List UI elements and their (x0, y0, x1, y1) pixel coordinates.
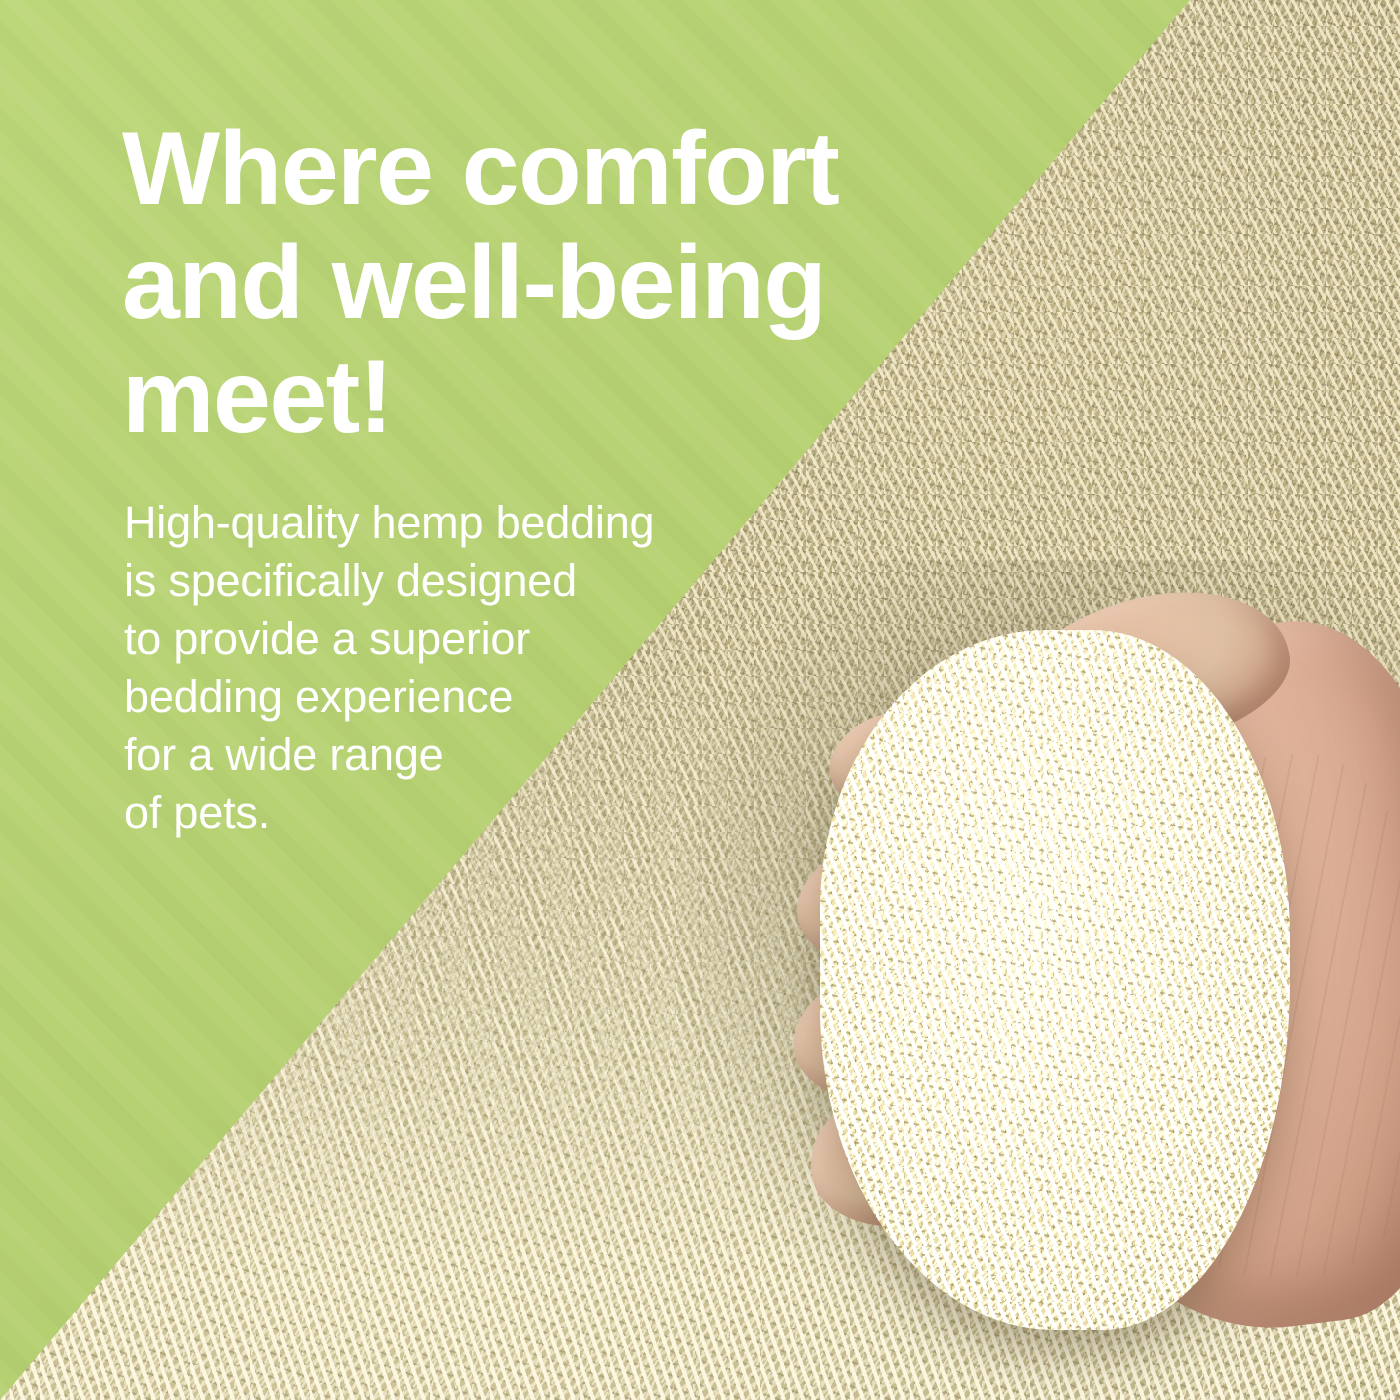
hand-holding-hemp (840, 590, 1400, 1400)
hemp-bedding-handful (820, 630, 1290, 1330)
page-title: Where comfort and well-being meet! (122, 112, 838, 454)
promo-poster: Where comfort and well-being meet! High-… (0, 0, 1400, 1400)
body-copy: High-quality hemp bedding is specificall… (124, 494, 654, 842)
